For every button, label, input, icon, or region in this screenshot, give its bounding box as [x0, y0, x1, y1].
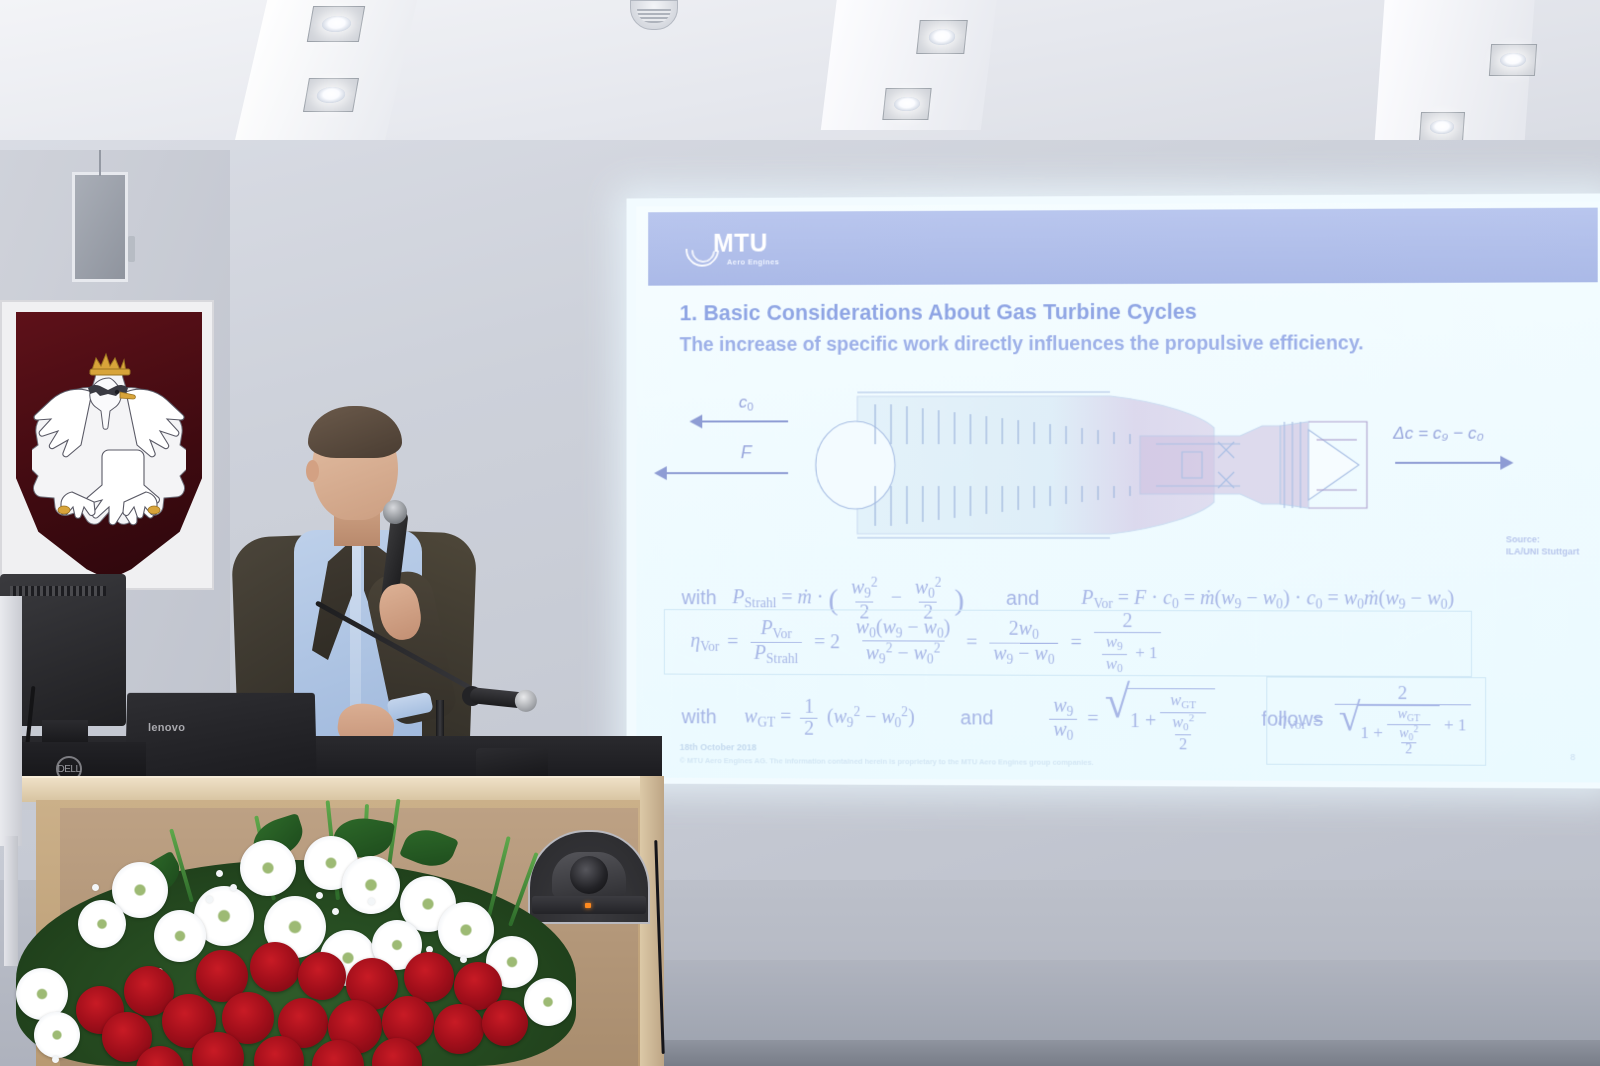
white-eagle-icon [32, 344, 186, 544]
monitor-vent [10, 586, 106, 596]
engine-diagram: c0 F [656, 389, 1545, 550]
slide-date: 18th October 2018 [680, 742, 757, 752]
label-c0: c0 [739, 393, 754, 414]
red-carnation [250, 942, 300, 992]
brand-tagline: Aero Engines [727, 258, 779, 266]
speaker-wire [99, 150, 101, 176]
ceiling-spotlight [882, 88, 931, 120]
slide-subtitle: The increase of specific work directly i… [680, 331, 1541, 358]
source-attribution: Source: ILA/UNI Stuttgart [1506, 534, 1580, 558]
camera-status-led [585, 903, 591, 908]
turbofan-cross-section-icon [812, 382, 1371, 549]
arrow-F [666, 472, 788, 474]
arrow-delta-c [1395, 462, 1502, 464]
mtu-logo: MTU Aero Engines [686, 231, 780, 266]
polish-coat-of-arms [0, 300, 214, 590]
projection-screen: MTU Aero Engines 1. Basic Considerations… [627, 193, 1600, 788]
lenovo-laptop[interactable] [125, 693, 317, 788]
arrow-c0 [701, 420, 788, 422]
label-delta-c: Δc = c₉ − c₀ [1393, 424, 1484, 444]
floor [640, 1040, 1600, 1066]
white-gerbera [78, 900, 126, 948]
monitor-stand [42, 720, 88, 744]
white-gerbera [342, 856, 400, 914]
lenovo-brand-label: lenovo [148, 722, 185, 734]
white-gerbera [438, 902, 494, 958]
flower-arrangement [16, 800, 576, 1066]
ceiling-spotlight [1489, 44, 1537, 76]
ceiling-spotlight [307, 6, 365, 42]
wall-speaker [72, 172, 128, 282]
arrow-head-right [1500, 456, 1513, 470]
slide-copyright: © MTU Aero Engines AG. The information c… [680, 756, 1094, 767]
ceiling-spotlight [303, 78, 359, 112]
arrow-head-left [689, 415, 702, 429]
lecture-hall-photo: MTU Aero Engines 1. Basic Considerations… [0, 0, 1600, 1066]
white-gerbera [34, 1012, 80, 1058]
ceiling-spotlight [1419, 112, 1465, 142]
red-carnation [298, 952, 346, 1000]
slide-canvas: MTU Aero Engines 1. Basic Considerations… [636, 202, 1600, 783]
white-gerbera [154, 910, 206, 962]
hair [308, 406, 402, 458]
arrow-head-left [654, 466, 667, 480]
equation-box-result: ηVor = 2 √ 1 + wGTw022 + 1 [1266, 676, 1486, 765]
mtu-swoosh-icon [686, 232, 719, 266]
white-gerbera [240, 840, 296, 896]
red-carnation [404, 952, 454, 1002]
slide-number: 8 [1570, 752, 1575, 762]
slide-title: 1. Basic Considerations About Gas Turbin… [680, 299, 1562, 327]
red-carnation [482, 1000, 528, 1046]
wall-bracket [128, 236, 135, 262]
podium-counter-top [0, 776, 662, 802]
brand-name: MTU [713, 231, 779, 256]
label-F: F [741, 442, 752, 463]
leaf [399, 822, 459, 874]
white-gerbera [524, 978, 572, 1026]
ear [306, 460, 319, 482]
ceiling-spotlight [916, 20, 968, 54]
equation-box-eta: ηVor = PVorPStrahl = 2 w0(w9 − w0)w92 − … [664, 609, 1472, 677]
red-carnation [434, 1004, 484, 1054]
slide-header-band: MTU Aero Engines [648, 208, 1598, 286]
